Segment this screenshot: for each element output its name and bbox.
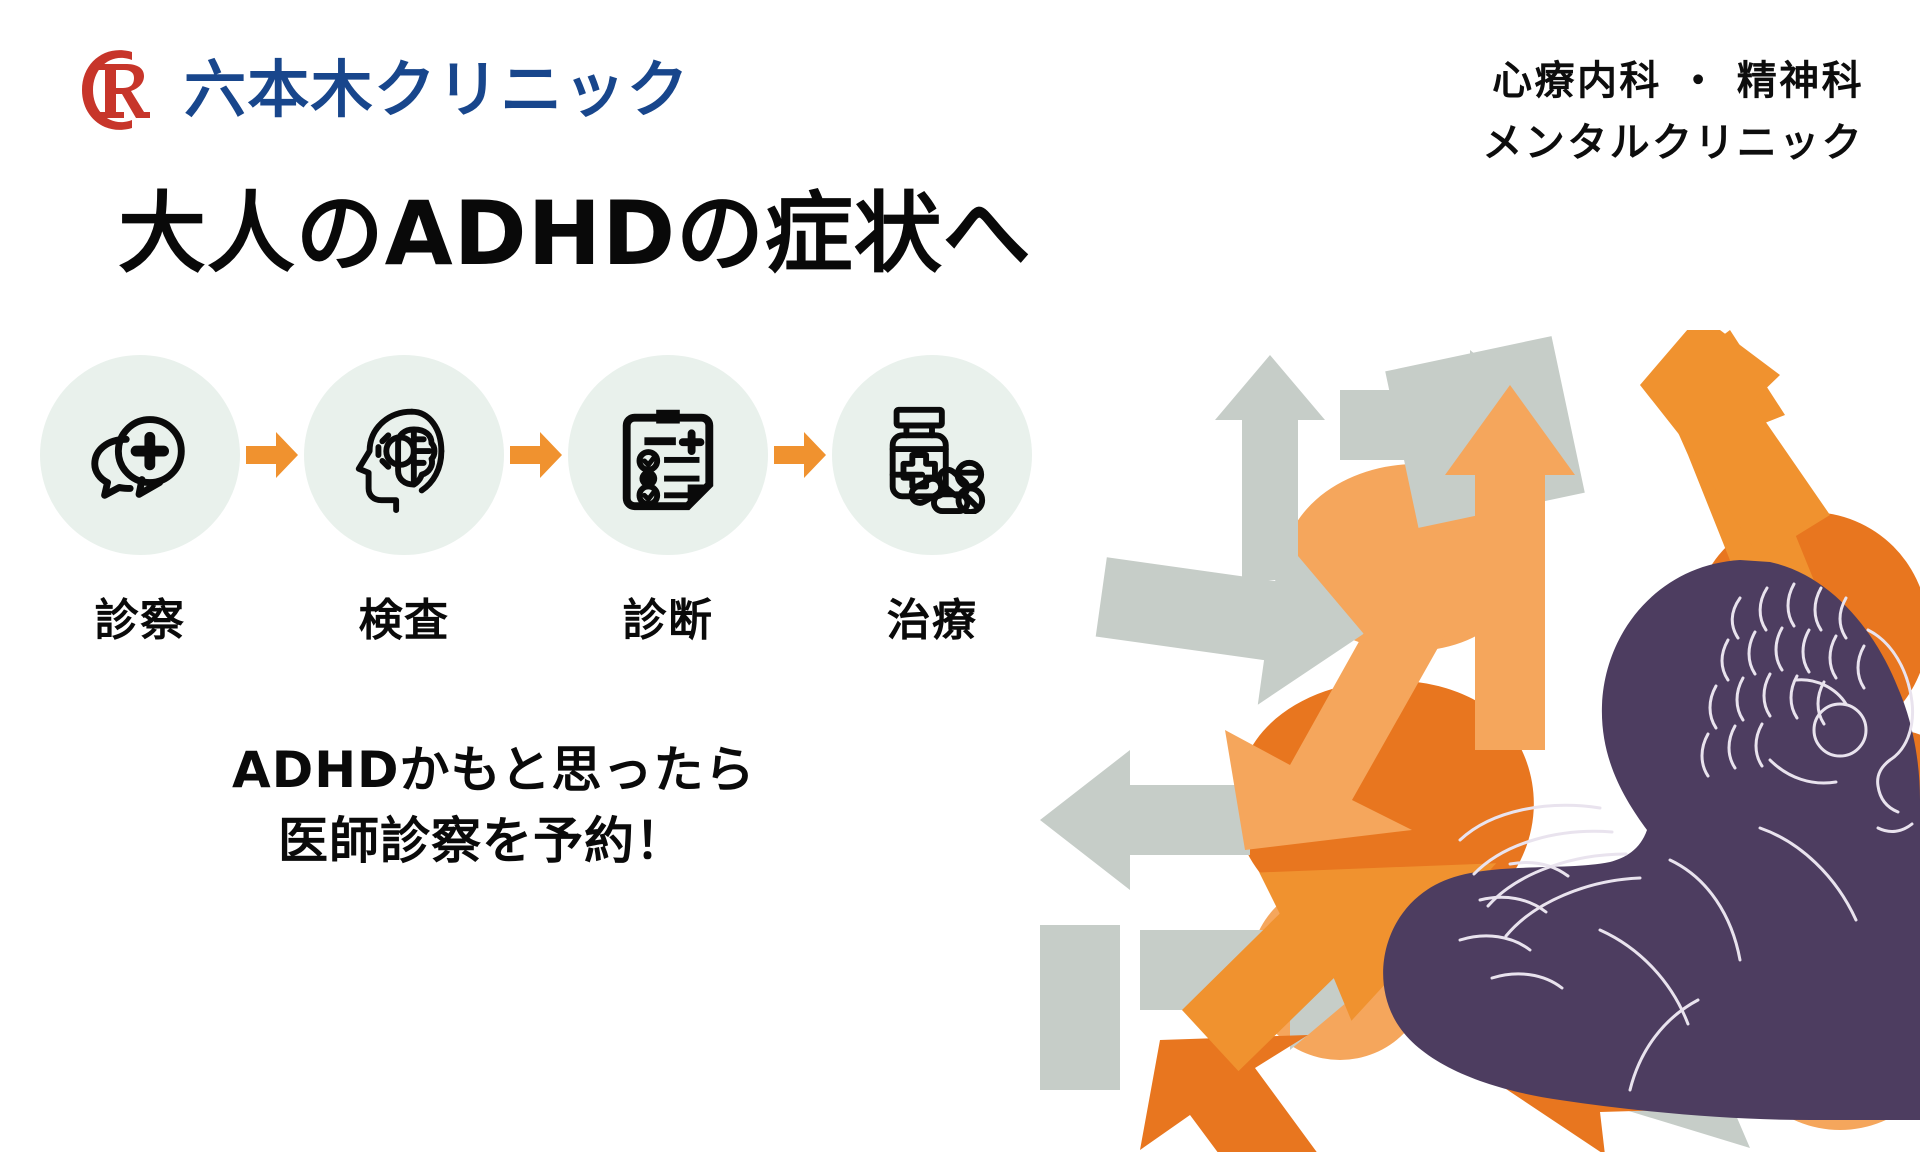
step-icon-circle [40, 355, 240, 555]
specialties-line-1: 心療内科 ・ 精神科 [1482, 50, 1864, 112]
step-consultation[interactable]: 診察 [40, 355, 240, 643]
flow-connector-2 [504, 355, 568, 555]
page-title: 大人のADHDの症状へ [118, 190, 1032, 278]
clipboard-checklist-icon [609, 396, 727, 514]
pill-bottle-icon [873, 396, 991, 514]
specialties-line-2: メンタルクリニック [1482, 112, 1864, 174]
step-label: 検査 [359, 599, 450, 643]
flow-connector-3 [768, 355, 832, 555]
clinic-name: 六本木クリニック [184, 59, 690, 121]
step-label: 診察 [95, 599, 186, 643]
step-icon-circle [304, 355, 504, 555]
step-diagnosis[interactable]: 診断 [568, 355, 768, 643]
cta-line-1: ADHDかもと思ったら [232, 735, 732, 806]
adhd-distraction-arrows-illustration [1040, 330, 1920, 1152]
specialties-block: 心療内科 ・ 精神科 メンタルクリニック [1482, 50, 1864, 174]
arrow-right-icon [510, 432, 562, 478]
call-to-action: ADHDかもと思ったら 医師診察を予約！ [232, 735, 732, 877]
arrow-right-icon [246, 432, 298, 478]
step-label: 治療 [887, 599, 978, 643]
speech-bubble-plus-icon [81, 396, 199, 514]
treatment-flow: 診察 [40, 355, 1032, 643]
step-icon-circle [832, 355, 1032, 555]
step-treatment[interactable]: 治療 [832, 355, 1032, 643]
clinic-logo[interactable]: 六本木クリニック [62, 38, 690, 142]
poster-canvas: 六本木クリニック 心療内科 ・ 精神科 メンタルクリニック 大人のADHDの症状… [0, 0, 1920, 1152]
arrow-right-icon [774, 432, 826, 478]
step-label: 診断 [623, 599, 714, 643]
head-brain-gear-icon [345, 396, 463, 514]
step-examination[interactable]: 検査 [304, 355, 504, 643]
flow-connector-1 [240, 355, 304, 555]
step-icon-circle [568, 355, 768, 555]
cr-monogram-icon [62, 38, 166, 142]
cta-line-2: 医師診察を予約！ [232, 806, 732, 877]
